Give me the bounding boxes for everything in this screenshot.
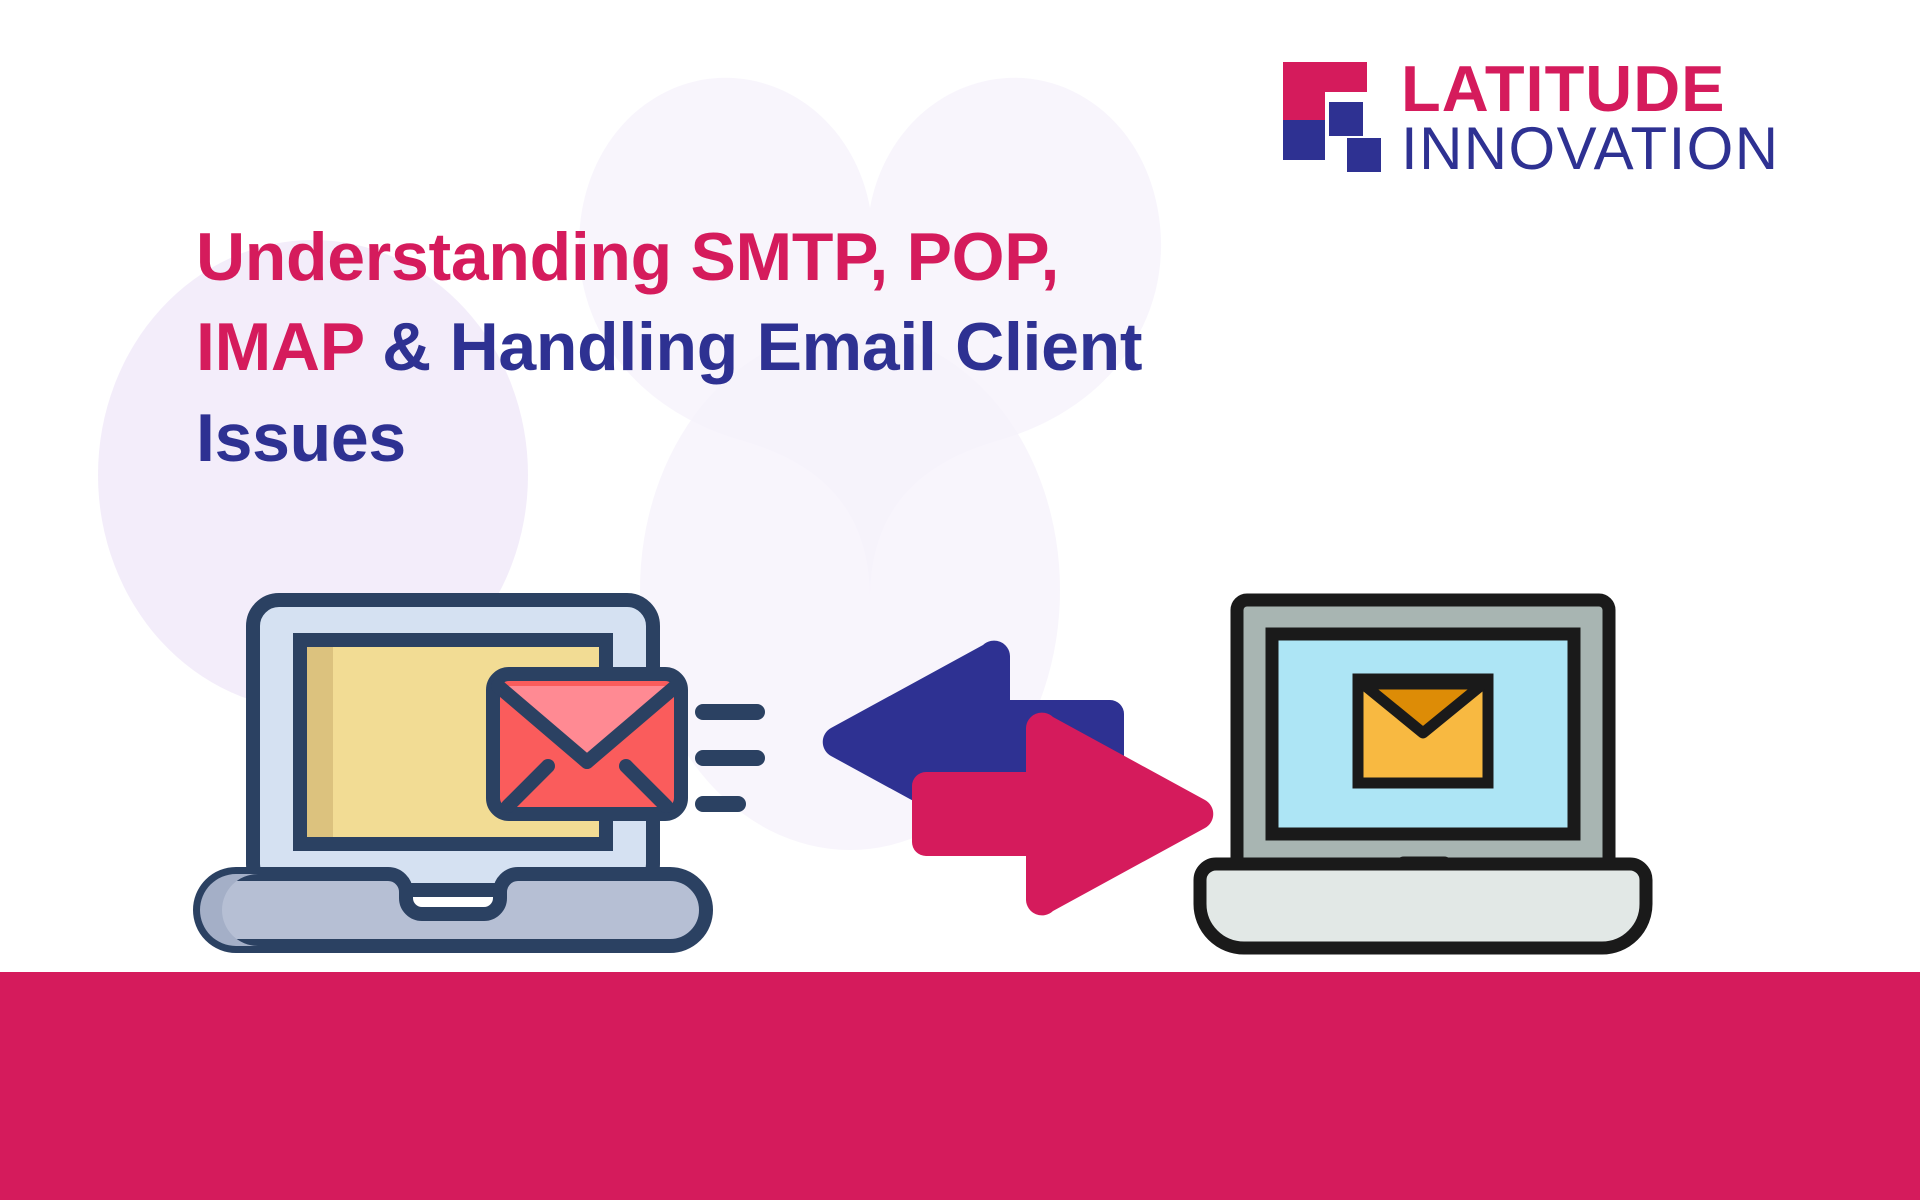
email-protocols-banner: LATITUDE INNOVATION Understanding SMTP, … [0, 0, 1920, 1200]
footer-color-band [0, 972, 1920, 1200]
motion-speed-lines [703, 712, 757, 804]
receiving-laptop-base [1200, 864, 1646, 948]
incoming-envelope [1358, 679, 1488, 783]
sending-laptop [200, 600, 757, 946]
receiving-laptop [1200, 600, 1646, 948]
sending-laptop-screen-shadow [307, 647, 333, 837]
outgoing-envelope [493, 674, 681, 814]
